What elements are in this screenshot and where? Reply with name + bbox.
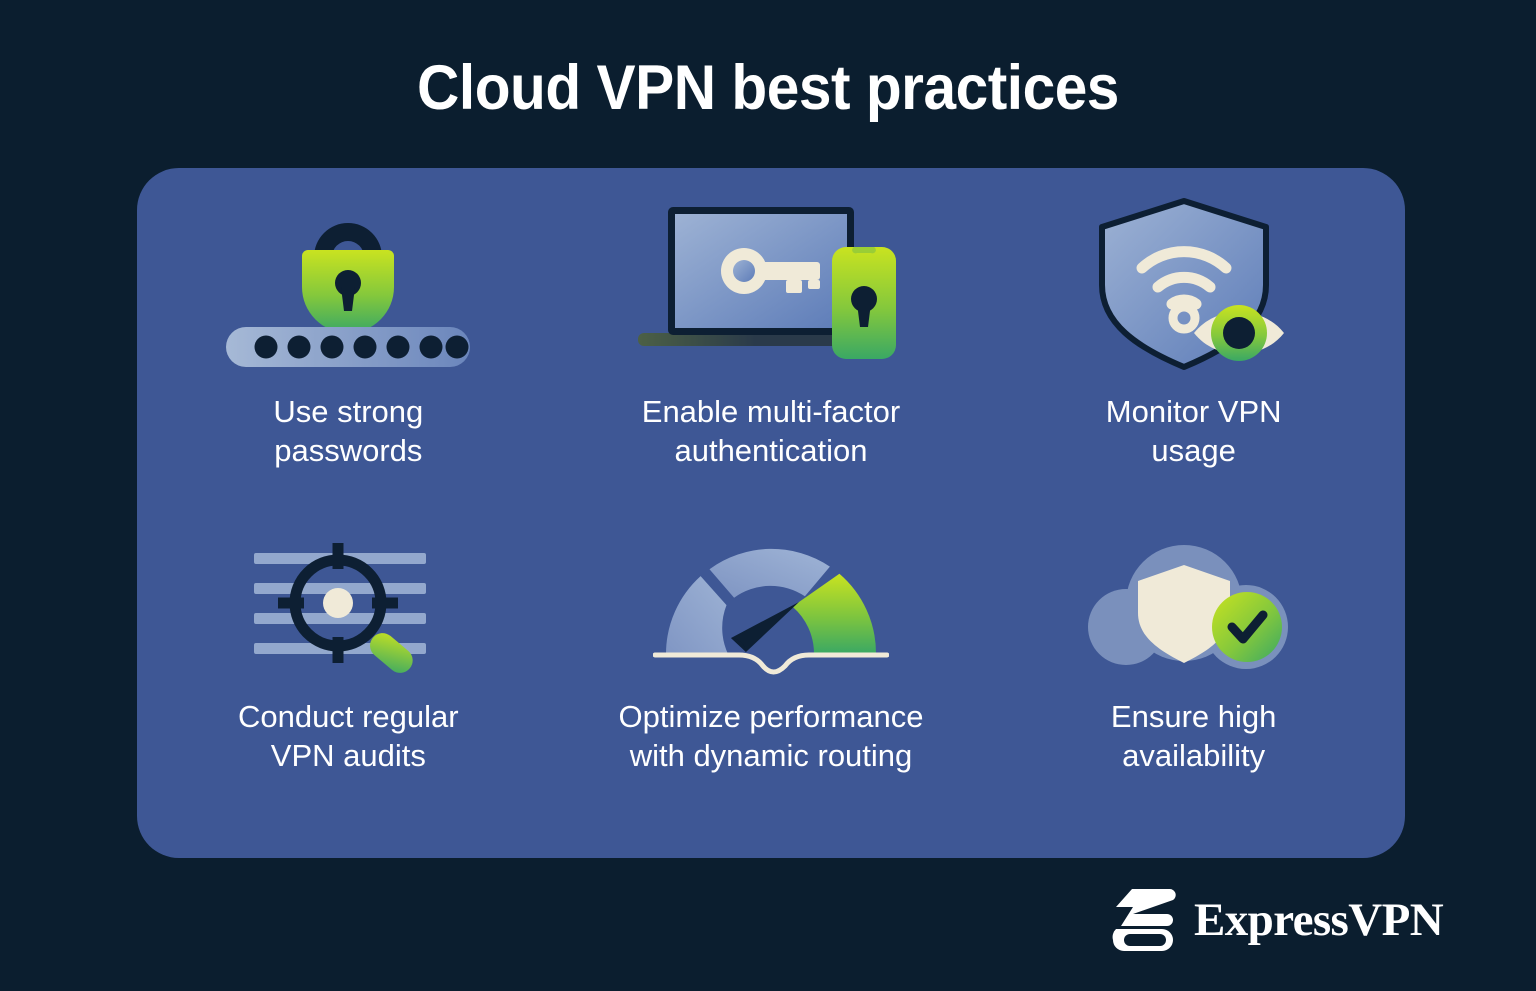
grid-item-label: Enable multi-factor authentication [642,392,900,471]
best-practices-grid: Use strong passwords [137,168,1405,858]
cloud-shield-check-icon [1044,531,1344,681]
page-title: Cloud VPN best practices [54,52,1482,124]
target-magnifier-icon [198,531,498,681]
grid-item-label: Optimize performance with dynamic routin… [619,697,924,776]
grid-item-use-strong-passwords: Use strong passwords [137,168,560,513]
expressvpn-logo: ExpressVPN [1108,884,1448,956]
padlock-password-field-icon [198,190,498,380]
grid-item-ensure-high-availability: Ensure high availability [982,513,1405,858]
shield-wifi-eye-icon [1044,190,1344,380]
grid-item-label: Ensure high availability [1111,697,1276,776]
grid-item-monitor-vpn-usage: Monitor VPN usage [982,168,1405,513]
expressvpn-wordmark: ExpressVPN [1194,897,1443,944]
infographic-root: Cloud VPN best practices [0,0,1536,991]
grid-item-label: Conduct regular VPN audits [238,697,459,776]
grid-item-label: Monitor VPN usage [1106,392,1282,471]
grid-item-conduct-vpn-audits: Conduct regular VPN audits [137,513,560,858]
grid-item-optimize-performance: Optimize performance with dynamic routin… [560,513,983,858]
grid-item-enable-mfa: Enable multi-factor authentication [560,168,983,513]
laptop-key-phone-icon [621,190,921,380]
best-practices-card: Use strong passwords [137,168,1405,858]
grid-item-label: Use strong passwords [273,392,423,471]
speedometer-gauge-icon [621,531,921,681]
expressvpn-e-mark-icon [1108,887,1180,953]
